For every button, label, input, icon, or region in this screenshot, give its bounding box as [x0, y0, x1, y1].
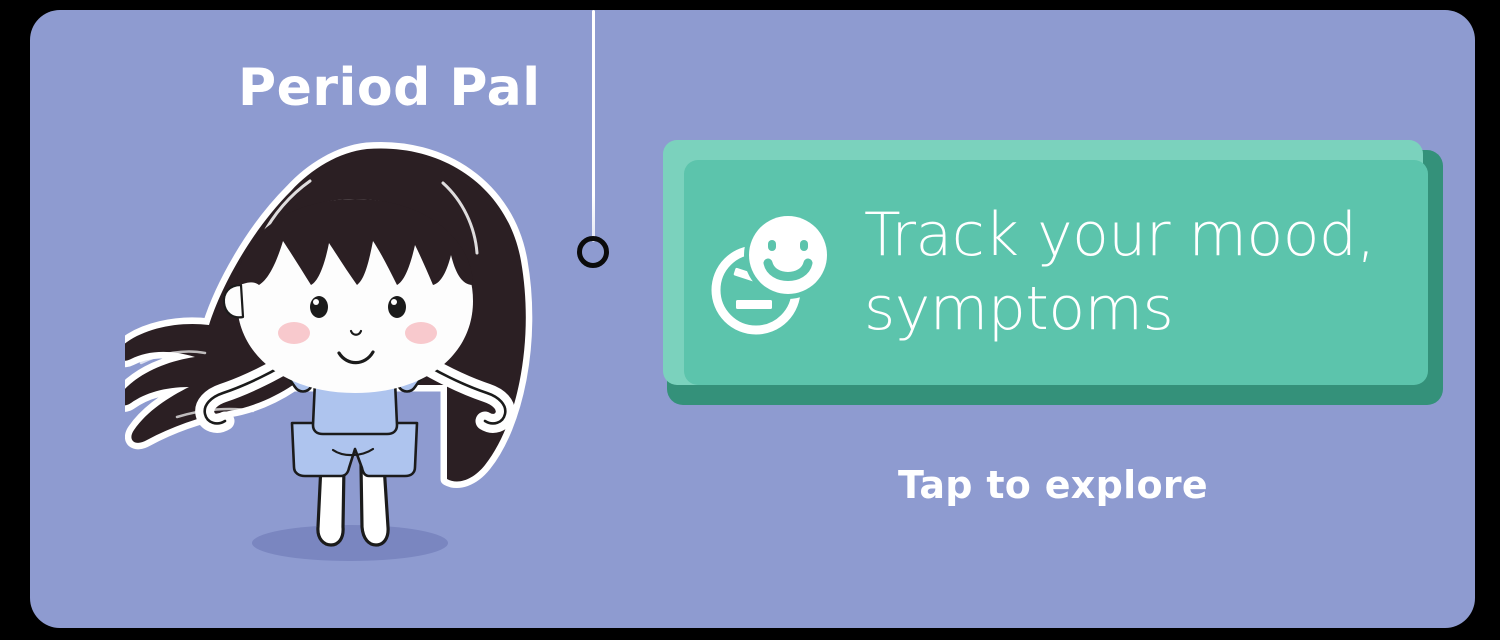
character-ground-shadow — [252, 525, 448, 561]
mood-faces-icon — [706, 207, 838, 339]
feature-card[interactable]: Track your mood, symptoms — [663, 140, 1443, 405]
smiling-face-icon — [744, 211, 832, 299]
screen-root: Period Pal — [0, 0, 1500, 640]
right-blush — [405, 322, 437, 344]
card-content: Track your mood, symptoms — [684, 160, 1428, 385]
right-eye — [388, 296, 406, 318]
card-headline: Track your mood, symptoms — [864, 199, 1418, 345]
page-title: Period Pal — [238, 62, 541, 114]
app-panel: Period Pal — [30, 10, 1475, 628]
tap-to-explore-hint[interactable]: Tap to explore — [663, 466, 1443, 504]
vertical-connector-line — [592, 10, 595, 242]
left-eye — [310, 296, 328, 318]
card-headline-line1: Track your mood, — [864, 199, 1418, 272]
cartoon-girl-illustration — [125, 135, 575, 575]
left-blush — [278, 322, 310, 344]
card-headline-line2: symptoms — [864, 273, 1418, 346]
connector-ring-icon — [577, 236, 609, 268]
